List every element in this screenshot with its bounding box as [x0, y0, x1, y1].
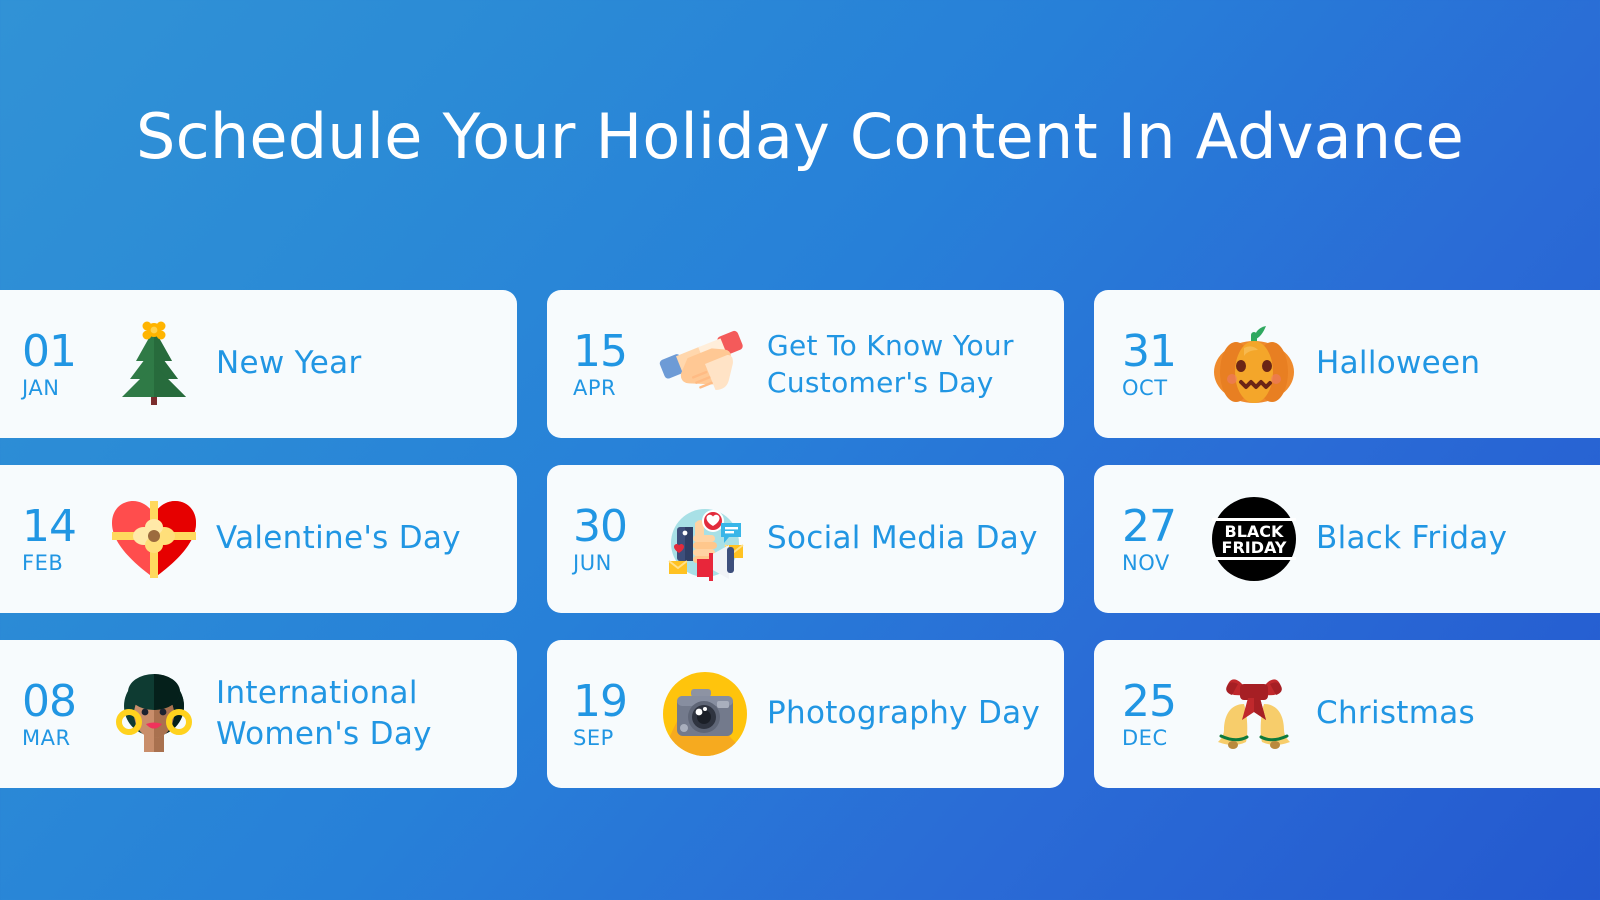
social-media-icon: [657, 491, 753, 587]
holiday-card-womens-day[interactable]: 08 MAR: [0, 640, 517, 788]
date-day: 01: [22, 330, 100, 374]
holiday-name: Photography Day: [767, 693, 1050, 734]
date-block: 27 NOV: [1122, 505, 1200, 574]
holiday-card-valentines-day[interactable]: 14 FEB Valentine: [0, 465, 517, 613]
black-friday-line2: FRIDAY: [1222, 538, 1287, 557]
black-friday-badge-icon: BLACK FRIDAY: [1206, 491, 1302, 587]
holiday-card-black-friday[interactable]: 27 NOV BLACK FRIDAY Black Friday: [1094, 465, 1600, 613]
heart-with-ribbon-icon: [106, 491, 202, 587]
date-block: 01 JAN: [22, 330, 100, 399]
camera-icon: [657, 666, 753, 762]
holiday-name: Valentine's Day: [216, 518, 471, 559]
christmas-bells-icon: [1206, 666, 1302, 762]
date-day: 25: [1122, 680, 1200, 724]
holiday-name: International Women's Day: [216, 673, 517, 755]
date-day: 19: [573, 680, 651, 724]
holiday-name: Christmas: [1316, 693, 1485, 734]
date-day: 27: [1122, 505, 1200, 549]
date-day: 31: [1122, 330, 1200, 374]
date-month: NOV: [1122, 553, 1200, 574]
date-block: 31 OCT: [1122, 330, 1200, 399]
date-day: 30: [573, 505, 651, 549]
page-title: Schedule Your Holiday Content In Advance: [0, 104, 1600, 169]
holiday-grid: 01 JAN: [0, 290, 1600, 788]
date-month: SEP: [573, 728, 651, 749]
date-block: 15 APR: [573, 330, 651, 399]
holiday-name: New Year: [216, 343, 372, 384]
holiday-card-customer-day[interactable]: 15 APR: [547, 290, 1064, 438]
date-day: 14: [22, 505, 100, 549]
holiday-card-photography-day[interactable]: 19 SEP: [547, 640, 1064, 788]
date-block: 30 JUN: [573, 505, 651, 574]
infographic-canvas: Schedule Your Holiday Content In Advance…: [0, 0, 1600, 900]
holiday-name: Get To Know Your Customer's Day: [767, 327, 1064, 401]
holiday-card-christmas[interactable]: 25 DEC: [1094, 640, 1600, 788]
holiday-name: Black Friday: [1316, 518, 1517, 559]
christmas-tree-icon: [106, 316, 202, 412]
date-block: 14 FEB: [22, 505, 100, 574]
date-month: DEC: [1122, 728, 1200, 749]
date-month: JUN: [573, 553, 651, 574]
holiday-name: Social Media Day: [767, 518, 1048, 559]
woman-avatar-icon: [106, 666, 202, 762]
holiday-name: Halloween: [1316, 343, 1490, 384]
date-day: 08: [22, 680, 100, 724]
date-month: APR: [573, 378, 651, 399]
date-block: 19 SEP: [573, 680, 651, 749]
date-month: JAN: [22, 378, 100, 399]
holiday-card-halloween[interactable]: 31 OCT Hallowee: [1094, 290, 1600, 438]
date-month: OCT: [1122, 378, 1200, 399]
date-month: FEB: [22, 553, 100, 574]
holiday-card-social-media-day[interactable]: 30 JUN: [547, 465, 1064, 613]
holiday-card-new-year[interactable]: 01 JAN: [0, 290, 517, 438]
date-block: 08 MAR: [22, 680, 100, 749]
jack-o-lantern-icon: [1206, 316, 1302, 412]
date-block: 25 DEC: [1122, 680, 1200, 749]
date-month: MAR: [22, 728, 100, 749]
date-day: 15: [573, 330, 651, 374]
handshake-icon: [657, 316, 753, 412]
